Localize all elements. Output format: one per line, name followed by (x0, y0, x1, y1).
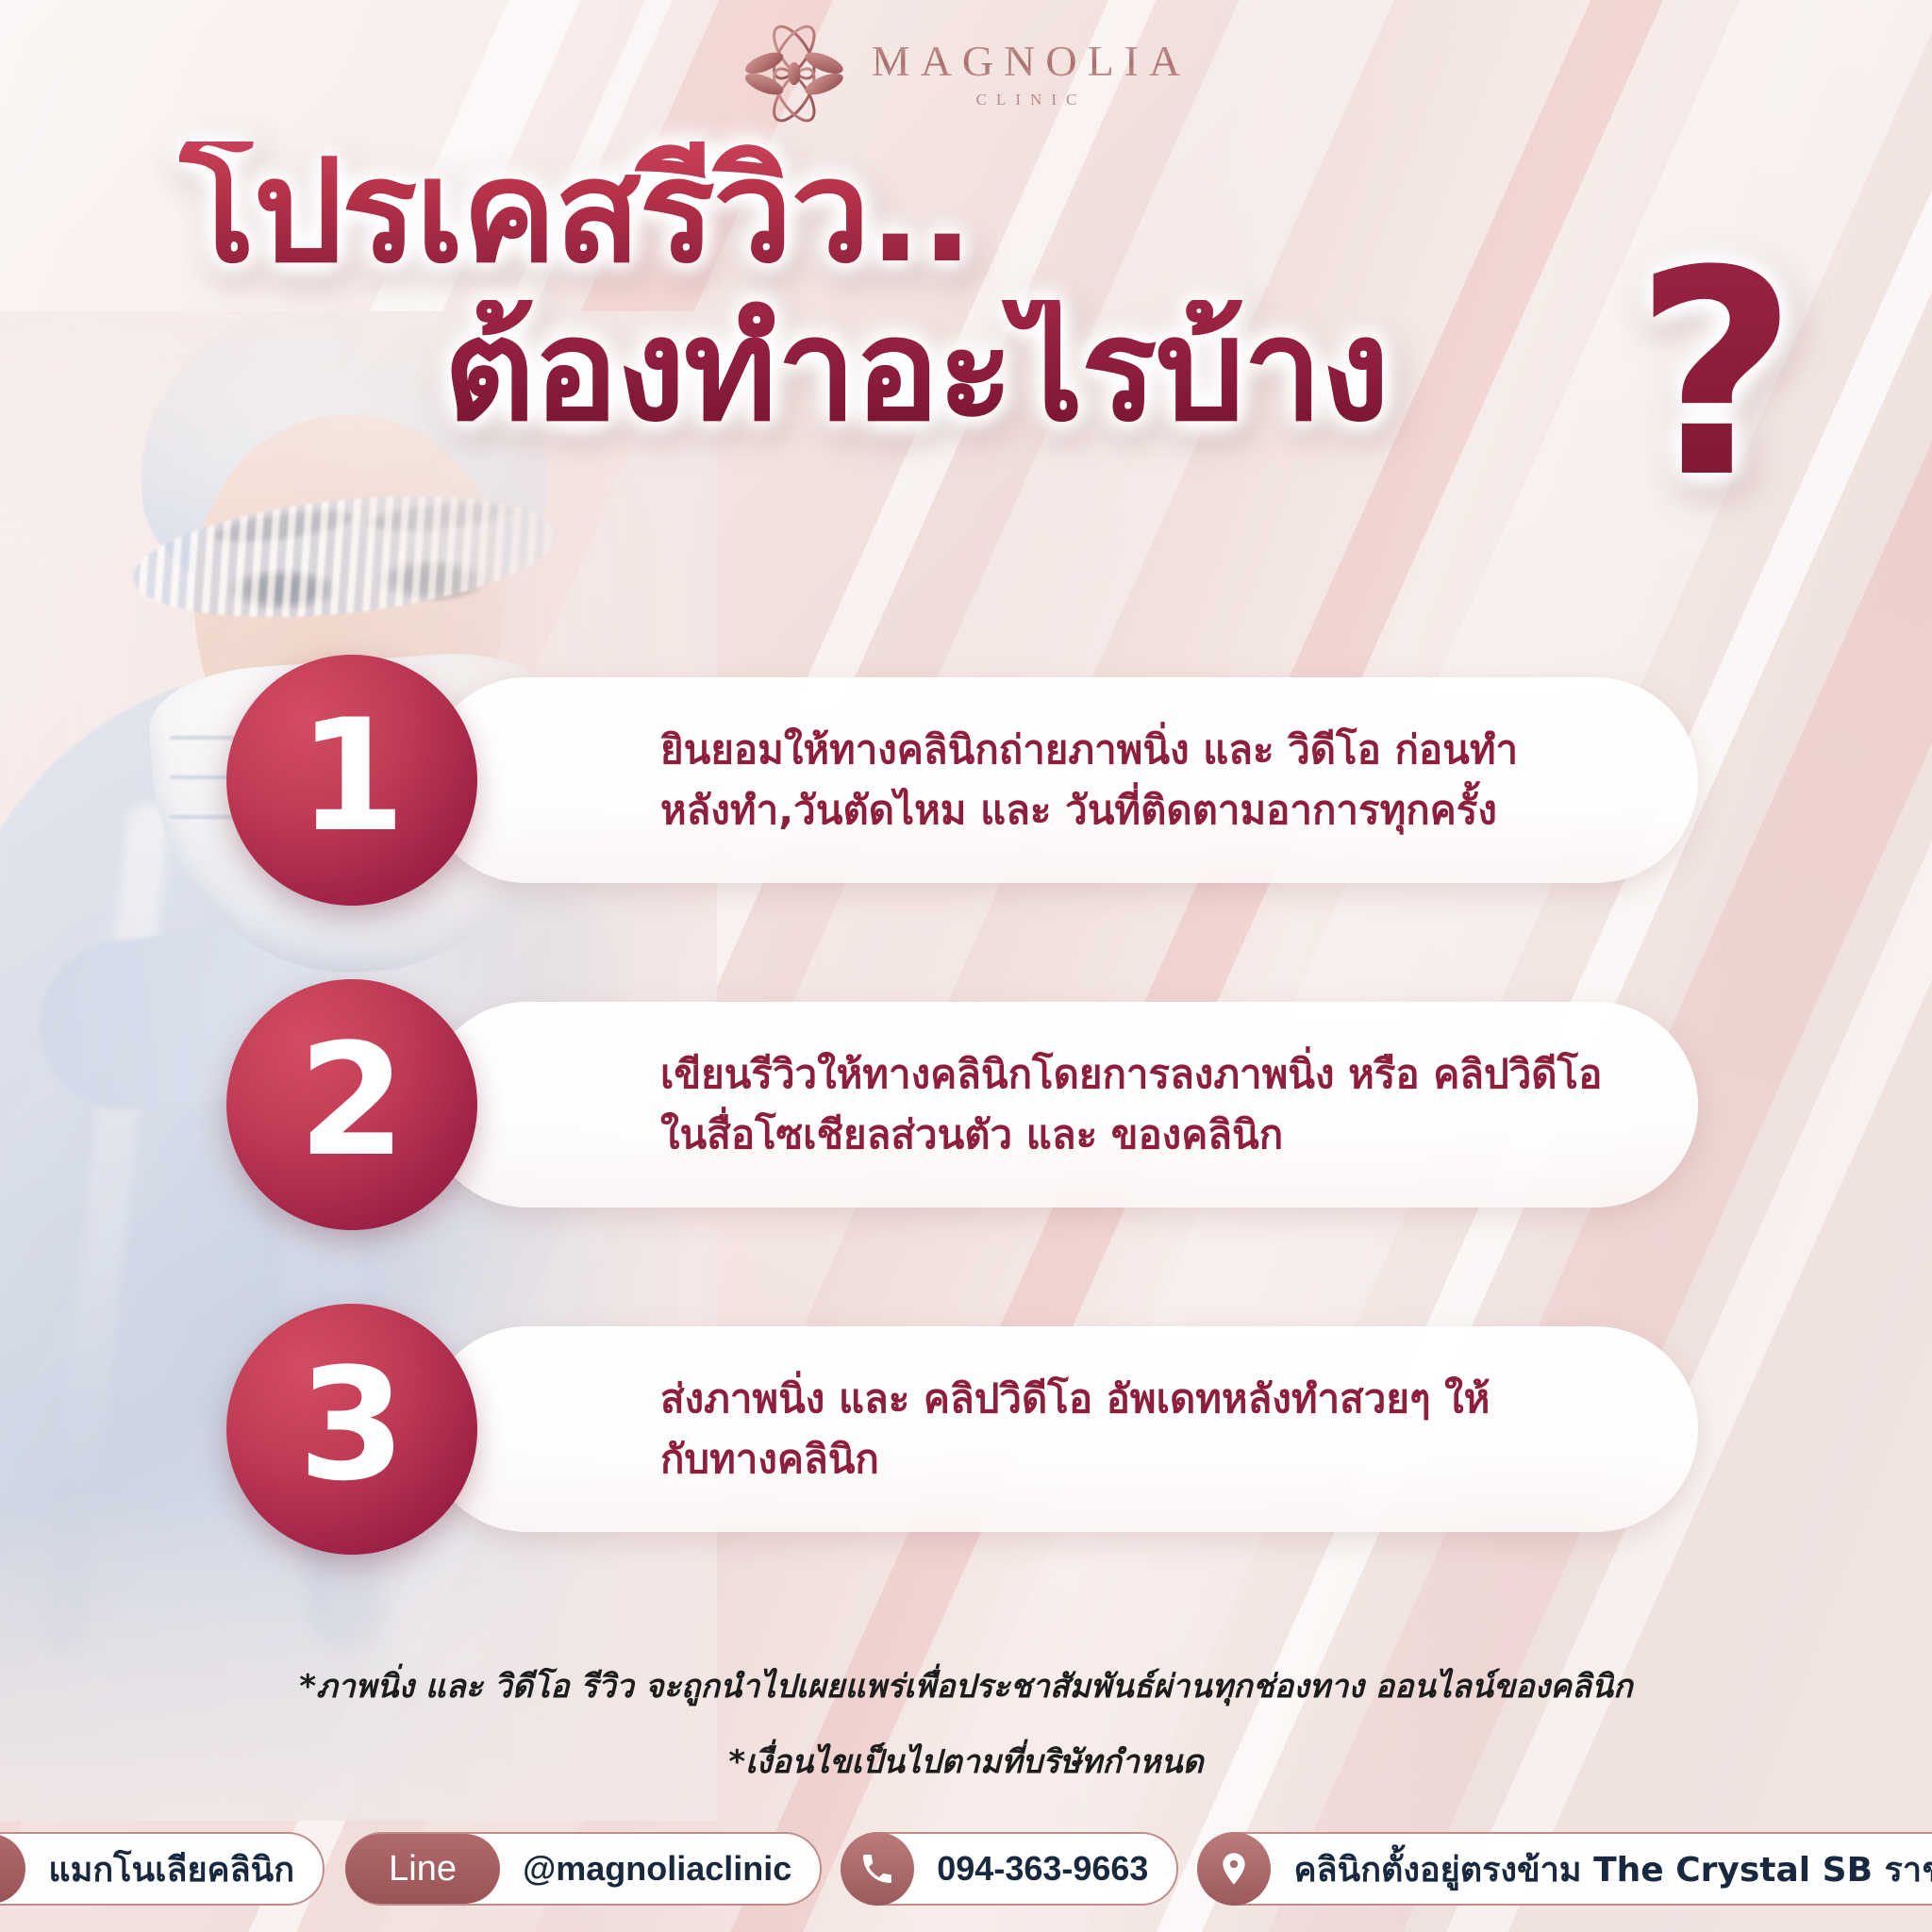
phone-value: 094-363-9663 (914, 1849, 1148, 1889)
brand-logo: MAGNOLIA CLINIC (741, 17, 1191, 130)
step-card: เขียนรีวิวให้ทางคลินิกโดยการลงภาพนิ่ง หร… (425, 1002, 1698, 1207)
location-value: คลินิกตั้งอยู่ตรงข้าม The Crystal SB ราช… (1271, 1842, 1932, 1896)
facebook-chip[interactable]: FB แมกโนเลียคลินิก (0, 1832, 325, 1906)
step-card: ยินยอมให้ทางคลินิกถ่ายภาพนิ่ง และ วิดีโอ… (425, 677, 1698, 883)
step-card: ส่งภาพนิ่ง และ คลิปวิดีโอ อัพเดทหลังทำสว… (425, 1326, 1698, 1532)
step-number-badge: 1 (226, 655, 477, 906)
steps-list: ยินยอมให้ทางคลินิกถ่ายภาพนิ่ง และ วิดีโอ… (226, 677, 1698, 1651)
footnotes: *ภาพนิ่ง และ วิดีโอ รีวิว จะถูกนำไปเผยแพ… (0, 1660, 1932, 1787)
step-text-line-2: ในสื่อโซเชียลส่วนตัว และ ของคลินิก (660, 1105, 1641, 1165)
step-item: ส่งภาพนิ่ง และ คลิปวิดีโอ อัพเดทหลังทำสว… (226, 1326, 1698, 1532)
step-text-line-1: ยินยอมให้ทางคลินิกถ่ายภาพนิ่ง และ วิดีโอ… (660, 720, 1641, 780)
line-chip[interactable]: Line @magnoliaclinic (345, 1832, 822, 1906)
headline-question-mark: ? (1634, 234, 1798, 517)
promo-poster: MAGNOLIA CLINIC โปรเคสรีวิว.. ต้องทำอะไร… (0, 0, 1932, 1932)
magnolia-flower-icon (741, 17, 847, 130)
step-text-line-2: หลังทำ,วันตัดไหม และ วันที่ติดตามอาการทุ… (660, 780, 1641, 841)
footnote-2: *เงื่อนไขเป็นไปตามที่บริษัทกำหนด (0, 1736, 1932, 1787)
step-text-line-1: ส่งภาพนิ่ง และ คลิปวิดีโอ อัพเดทหลังทำสว… (660, 1369, 1641, 1429)
location-chip[interactable]: คลินิกตั้งอยู่ตรงข้าม The Crystal SB ราช… (1199, 1832, 1932, 1906)
brand-name: MAGNOLIA (872, 40, 1191, 83)
footnote-1: *ภาพนิ่ง และ วิดีโอ รีวิว จะถูกนำไปเผยแพ… (0, 1660, 1932, 1711)
phone-chip[interactable]: 094-363-9663 (842, 1832, 1178, 1906)
facebook-label: FB (0, 1834, 25, 1904)
contact-bar: FB แมกโนเลียคลินิก Line @magnoliaclinic … (0, 1832, 1932, 1906)
phone-icon (841, 1832, 914, 1906)
step-item: เขียนรีวิวให้ทางคลินิกโดยการลงภาพนิ่ง หร… (226, 1002, 1698, 1207)
map-pin-icon (1197, 1832, 1271, 1906)
step-number: 1 (298, 699, 406, 854)
step-number: 2 (298, 1024, 406, 1178)
step-text-line-1: เขียนรีวิวให้ทางคลินิกโดยการลงภาพนิ่ง หร… (660, 1044, 1641, 1105)
step-item: ยินยอมให้ทางคลินิกถ่ายภาพนิ่ง และ วิดีโอ… (226, 677, 1698, 883)
step-text-line-2: กับทางคลินิก (660, 1429, 1641, 1490)
facebook-value: แมกโนเลียคลินิก (25, 1842, 294, 1896)
brand-subtitle: CLINIC (976, 92, 1087, 108)
step-number: 3 (298, 1348, 406, 1503)
step-number-badge: 2 (226, 979, 477, 1230)
line-label: Line (345, 1834, 500, 1904)
line-value: @magnoliaclinic (500, 1849, 791, 1889)
step-number-badge: 3 (226, 1304, 477, 1555)
